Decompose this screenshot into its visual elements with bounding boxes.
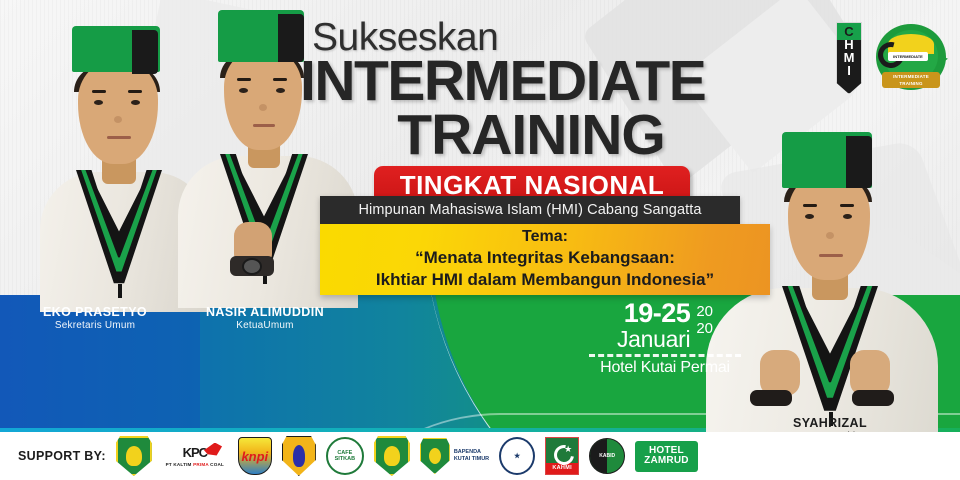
sponsor-logo-kpc: KPC PT KALTIM PRIMA COAL bbox=[162, 440, 228, 472]
hmi-sash bbox=[76, 170, 162, 288]
eye-left bbox=[239, 88, 248, 93]
nose bbox=[259, 104, 267, 111]
songkok-cap-shadow bbox=[846, 136, 872, 188]
sponsor-logo-kabid: KABID bbox=[589, 438, 625, 474]
mouth bbox=[819, 254, 843, 257]
nose bbox=[826, 232, 834, 239]
shield-icon bbox=[420, 438, 450, 474]
round-emblem-icon: KABID bbox=[589, 438, 625, 474]
emblem-icon: ★ bbox=[499, 437, 535, 475]
sponsor-logo-kutai-timur-shield bbox=[116, 436, 152, 476]
badge-label: INTERMEDIATE TRAINING bbox=[882, 72, 940, 88]
sash-layer-green bbox=[76, 170, 162, 288]
bapenda-line-1: BAPENDA bbox=[454, 449, 489, 456]
zamrud-line-2: ZAMRUD bbox=[644, 456, 689, 467]
bapenda-text: BAPENDA KUTAI TIMUR bbox=[454, 449, 489, 463]
eye-left bbox=[805, 214, 814, 219]
hmi-letter-i: I bbox=[847, 64, 851, 77]
event-poster: Sukseskan INTERMEDIATE TRAINING TINGKAT … bbox=[0, 0, 960, 480]
person-role: Sekretaris Umum bbox=[0, 320, 190, 331]
theme-label: Tema: bbox=[320, 227, 770, 247]
person-name: EKO PRASETYO bbox=[0, 305, 190, 319]
theme-band: Tema: “Menata Integritas Kebangsaan: Ikh… bbox=[320, 224, 770, 295]
face bbox=[78, 60, 158, 164]
theme-line-2: Ikhtiar HMI dalam Membangun Indonesia” bbox=[320, 269, 770, 291]
person-name: NASIR ALIMUDDIN bbox=[170, 305, 360, 319]
kpc-sub-b: PRIMA bbox=[193, 462, 209, 467]
shield-icon bbox=[116, 436, 152, 476]
shield-core bbox=[384, 446, 400, 466]
kpc-sub-a: PT KALTIM bbox=[166, 462, 193, 467]
shield-core bbox=[429, 448, 441, 464]
crescent-star-icon bbox=[546, 438, 578, 463]
police-badge-icon bbox=[282, 436, 316, 476]
eye-left bbox=[94, 100, 103, 105]
eye-right bbox=[276, 88, 285, 93]
face bbox=[788, 172, 870, 280]
sponsor-logo-emblem: ★ bbox=[499, 437, 535, 475]
sponsor-logo-bapenda: BAPENDA KUTAI TIMUR bbox=[420, 438, 489, 474]
sponsor-logo-kahmi: KAHMI bbox=[545, 437, 579, 475]
organization-bar: Himpunan Mahasiswa Islam (HMI) Cabang Sa… bbox=[320, 196, 740, 224]
headline-training: TRAINING bbox=[300, 108, 770, 162]
eyebrow-left bbox=[237, 78, 251, 81]
knpi-icon: knpi bbox=[238, 437, 272, 475]
kpc-wordmark: KPC bbox=[183, 446, 207, 459]
schedule-year-bottom: 20 bbox=[696, 320, 713, 337]
theme-line-1: “Menata Integritas Kebangsaan: bbox=[320, 247, 770, 269]
kahmi-icon: KAHMI bbox=[545, 437, 579, 475]
sponsor-logo-knpi: knpi bbox=[238, 437, 272, 475]
headline-intermediate: INTERMEDIATE bbox=[300, 55, 770, 109]
schedule-block: 19-25 Januari 20 20 Hotel Kutai Permai bbox=[570, 300, 760, 377]
eye-right bbox=[131, 100, 140, 105]
kpc-title: KPC bbox=[183, 445, 207, 460]
emblem-label: KABID bbox=[599, 453, 615, 459]
schedule-year-top: 20 bbox=[696, 303, 713, 320]
face bbox=[224, 48, 302, 150]
songkok-cap-shadow bbox=[132, 30, 158, 74]
eyebrow-right bbox=[840, 204, 854, 207]
nose bbox=[114, 116, 122, 123]
hmi-logo-icon: C H M I bbox=[836, 22, 862, 94]
sponsor-logo-kutim-shield bbox=[374, 436, 410, 476]
schedule-days: 19-25 bbox=[617, 300, 690, 327]
eyebrow-right bbox=[273, 78, 287, 81]
bracelet-right bbox=[852, 390, 894, 406]
kpc-sub-c: COAL bbox=[209, 462, 224, 467]
nameplate-eko-prasetyo: EKO PRASETYO Sekretaris Umum bbox=[0, 305, 190, 331]
mouth bbox=[107, 136, 131, 139]
sponsor-logo-hotel-zamrud: HOTEL ZAMRUD bbox=[635, 441, 698, 472]
shield-core bbox=[126, 446, 142, 466]
sash-tip bbox=[118, 284, 122, 298]
eyebrow-left bbox=[92, 90, 106, 93]
eyebrow-left bbox=[803, 204, 817, 207]
schedule-year: 20 20 bbox=[696, 303, 713, 338]
intermediate-training-badge-icon: INTERMEDIATE INTERMEDIATE TRAINING bbox=[872, 20, 950, 96]
mouth bbox=[253, 124, 275, 127]
support-bar: SUPPORT BY: KPC PT KALTIM PRIMA COAL knp… bbox=[0, 432, 960, 480]
badge-core bbox=[293, 445, 305, 467]
schedule-venue: Hotel Kutai Permai bbox=[570, 359, 760, 377]
cafe-seal-icon: CAFE SITKAB bbox=[326, 437, 364, 475]
sponsor-logo-cafe-sitkab: CAFE SITKAB bbox=[326, 437, 364, 475]
shield-icon bbox=[374, 436, 410, 476]
schedule-month: Januari bbox=[617, 327, 690, 351]
eye-right bbox=[843, 214, 852, 219]
date-row: 19-25 Januari 20 20 bbox=[570, 300, 760, 351]
nameplate-nasir-alimuddin: NASIR ALIMUDDIN KetuaUmum bbox=[170, 305, 360, 331]
support-label: SUPPORT BY: bbox=[18, 449, 106, 463]
date-left: 19-25 Januari bbox=[617, 300, 690, 351]
badge-strip: INTERMEDIATE bbox=[888, 52, 928, 61]
sponsor-logo-polri bbox=[282, 436, 316, 476]
person-name: SYAHRIZAL bbox=[730, 416, 930, 430]
bracelet-left bbox=[750, 390, 792, 406]
schedule-divider bbox=[589, 354, 741, 357]
headline-block: Sukseskan INTERMEDIATE TRAINING TINGKAT … bbox=[300, 18, 770, 207]
bapenda-line-2: KUTAI TIMUR bbox=[454, 456, 489, 463]
kpc-subtitle: PT KALTIM PRIMA COAL bbox=[166, 462, 224, 467]
person-role: KetuaUmum bbox=[170, 320, 360, 331]
hotel-zamrud-icon: HOTEL ZAMRUD bbox=[635, 441, 698, 472]
wristwatch-face bbox=[242, 258, 262, 275]
eyebrow-right bbox=[128, 90, 142, 93]
